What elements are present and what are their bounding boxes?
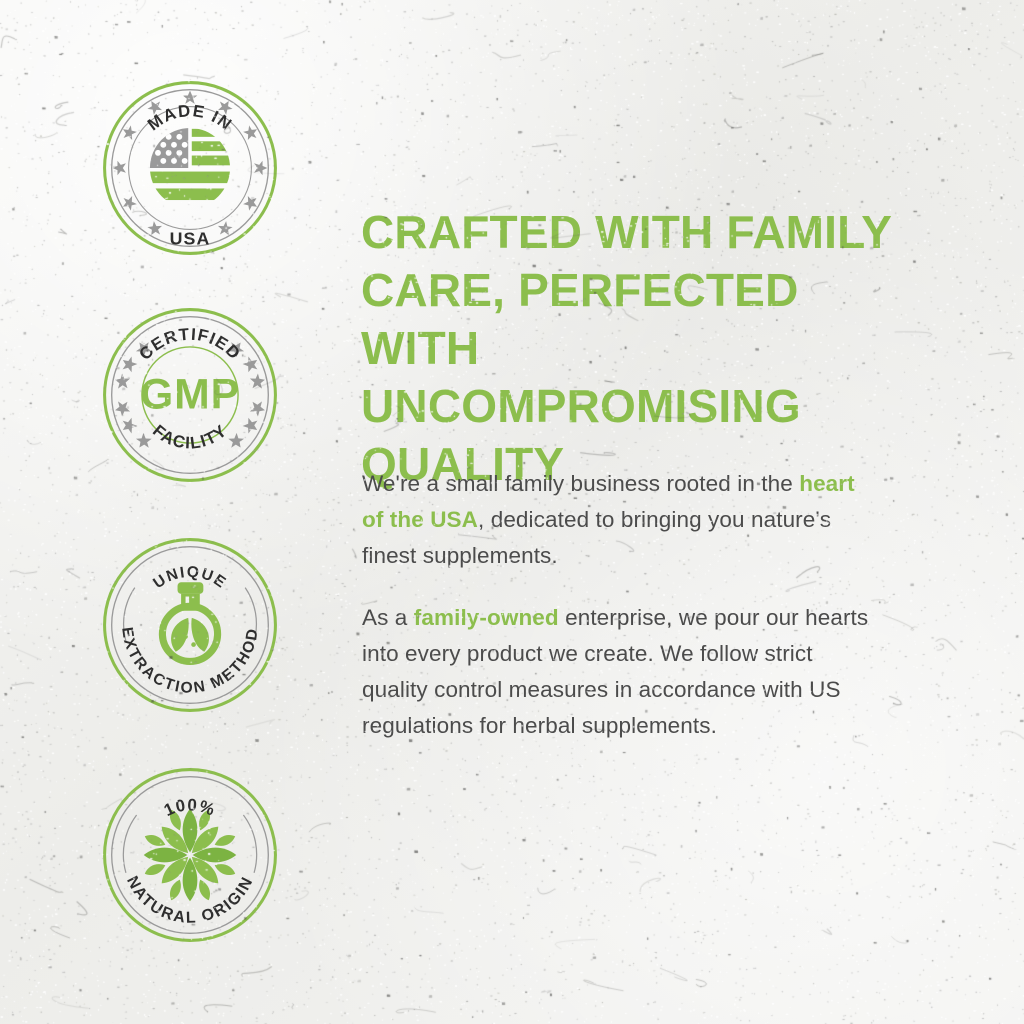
made-in-usa-seal-icon: MADE IN USA — [101, 79, 279, 257]
promo-panel: MADE IN USA — [0, 0, 1024, 1024]
badge-usa-bottom-text: USA — [170, 229, 211, 249]
paragraph-2: As a family-owned enterprise, we pour ou… — [362, 600, 882, 744]
paragraph-1-part-1: We're a small family business rooted in … — [362, 471, 799, 496]
natural-origin-seal-icon: 100% NATURAL ORIGIN — [101, 766, 279, 944]
badge-natural-origin: 100% NATURAL ORIGIN — [101, 766, 279, 944]
svg-text:CERTIFIED: CERTIFIED — [135, 325, 244, 364]
badge-gmp-top-text: CERTIFIED — [135, 325, 244, 364]
gmp-seal-icon: CERTIFIED GMP FACILITY — [101, 306, 279, 484]
trust-badge-column: MADE IN USA — [0, 0, 355, 1024]
badge-gmp-certified-facility: CERTIFIED GMP FACILITY — [101, 306, 279, 484]
svg-text:FACILITY: FACILITY — [149, 421, 231, 453]
badge-made-in-usa: MADE IN USA — [101, 79, 279, 257]
flask-leaf-icon — [162, 582, 217, 661]
body-copy: We're a small family business rooted in … — [362, 466, 882, 744]
extraction-method-seal-icon: UNIQUE EXTRACTION METHOD — [101, 536, 279, 714]
paragraph-2-highlight: family-owned — [414, 605, 559, 630]
badge-gmp-center-text: GMP — [140, 370, 240, 418]
content-column: CRAFTED WITH FAMILY CARE, PERFECTED WITH… — [361, 0, 961, 1024]
badge-gmp-bottom-text: FACILITY — [149, 421, 231, 453]
leaf-rosette-icon — [143, 808, 237, 902]
badge-unique-extraction-method: UNIQUE EXTRACTION METHOD — [101, 536, 279, 714]
paragraph-2-part-1: As a — [362, 605, 414, 630]
page-title: CRAFTED WITH FAMILY CARE, PERFECTED WITH… — [361, 203, 921, 493]
paragraph-1: We're a small family business rooted in … — [362, 466, 882, 574]
